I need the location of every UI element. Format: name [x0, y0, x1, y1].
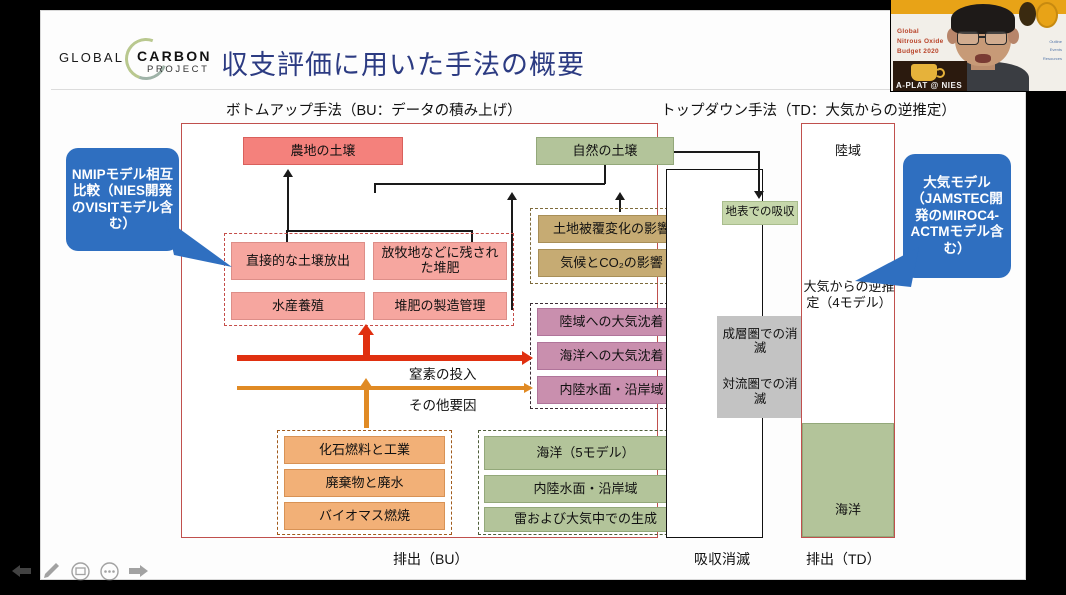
node-lightning-atmos-production[interactable]: 雷および大気中での生成 [484, 507, 687, 532]
node-natural-soil[interactable]: 自然の土壌 [536, 137, 674, 165]
connector-cropland-stem [287, 177, 289, 231]
axis-label-absorption: 吸収消滅 [694, 549, 750, 569]
connector-natural-soil-h [374, 183, 605, 185]
slide-navigation-toolbar[interactable] [12, 561, 148, 581]
more-options-icon[interactable] [99, 561, 119, 581]
node-ocean-5models[interactable]: 海洋（5モデル） [484, 436, 687, 470]
connector-td-in-v [758, 151, 760, 193]
presenter-glasses-right [985, 31, 1007, 45]
axis-label-emission-td: 排出（TD） [806, 549, 881, 569]
tropospheric-loss-label: 対流圏での消滅 [720, 377, 800, 406]
node-biomass-burning[interactable]: バイオマス燃焼 [284, 502, 445, 530]
connector-natural-soil-left-v [374, 183, 376, 193]
node-td-ocean[interactable]: 海洋 [802, 423, 894, 537]
node-pasture-manure[interactable]: 放牧地などに残された堆肥 [373, 242, 507, 280]
badge-handle-icon [935, 68, 945, 78]
node-fossil-fuel-industry[interactable]: 化石燃料と工業 [284, 436, 445, 464]
connector-agri-top-h [286, 230, 472, 232]
stratospheric-loss-label: 成層圏での消滅 [720, 327, 800, 356]
badge-text: A-PLAT @ NIES [896, 81, 962, 90]
logo-carbon-text: CARBON [137, 48, 212, 64]
pen-tool-icon[interactable] [41, 561, 61, 581]
node-inland-water-coastal-dep[interactable]: 内陸水面・沿岸域 [537, 376, 686, 404]
node-direct-soil-emission[interactable]: 直接的な土壌放出 [231, 242, 365, 280]
node-aquaculture[interactable]: 水産養殖 [231, 292, 365, 320]
arrow-up-cropland [283, 169, 293, 177]
callout-nmip-text: NMIPモデル相互比較（NIES開発のVISITモデル含む） [70, 167, 175, 233]
node-manure-management[interactable]: 堆肥の製造管理 [373, 292, 507, 320]
node-stratospheric-loss[interactable]: 成層圏での消滅 [717, 316, 803, 366]
node-inland-water-coastal-src[interactable]: 内陸水面・沿岸域 [484, 475, 687, 503]
webcam-sidebar-line-2: Events [1043, 46, 1062, 54]
label-nitrogen-input: 窒素の投入 [409, 363, 477, 383]
global-carbon-project-logo: GLOBAL CARBON PROJECT [59, 36, 229, 81]
arrow-other-vertical [364, 386, 369, 428]
node-ocean-deposition[interactable]: 海洋への大気沈着 [537, 342, 686, 370]
webcam-overlay[interactable]: Global Nitrous Oxide Budget 2020 Outline… [890, 0, 1066, 92]
webcam-sidebar-line-1: Outline [1043, 38, 1062, 46]
webcam-watermark-badge: A-PLAT @ NIES [893, 61, 967, 91]
webcam-slide-ellipse-gold [1036, 2, 1058, 28]
label-other-factors: その他要因 [409, 394, 477, 414]
caption-top-down: トップダウン手法（TD：大気からの逆推定） [661, 99, 956, 120]
presenter-glasses-left [957, 31, 979, 45]
webcam-sidebar-line-3: Resources [1043, 55, 1062, 63]
connector-natural-soil-stem [604, 165, 606, 184]
callout-atmos-tail [853, 241, 923, 301]
callout-nmip-model[interactable]: NMIPモデル相互比較（NIES開発のVISITモデル含む） [66, 148, 179, 251]
arrow-other-horizontal [237, 386, 525, 390]
page-title: 収支評価に用いた手法の概要 [221, 43, 585, 82]
node-surface-uptake[interactable]: 地表での吸収 [722, 201, 798, 225]
node-landcover-change[interactable]: 土地被覆変化の影響 [538, 215, 685, 243]
node-land-deposition[interactable]: 陸域への大気沈着 [537, 308, 686, 336]
node-cropland-soil[interactable]: 農地の土壌 [243, 137, 403, 165]
logo-global-text: GLOBAL [59, 50, 124, 65]
arrow-nitrogen-head-up [358, 324, 374, 335]
node-tropospheric-loss[interactable]: 対流圏での消滅 [717, 366, 803, 418]
label-td-land: 陸域 [807, 143, 889, 159]
screen: GLOBAL CARBON PROJECT 収支評価に用いた手法の概要 ボトムア… [0, 0, 1066, 595]
next-slide-icon[interactable] [128, 561, 148, 581]
arrow-down-absorption [754, 191, 764, 199]
arrow-up-mid [507, 192, 517, 200]
presenter-glasses-bridge [979, 36, 985, 38]
callout-nmip-tail [166, 211, 246, 271]
presenter-hair [951, 4, 1015, 34]
logo-project-text: PROJECT [147, 64, 210, 75]
connector-td-in-h [674, 151, 759, 153]
node-climate-co2[interactable]: 気候とCO₂の影響 [538, 249, 685, 277]
presentation-slide: GLOBAL CARBON PROJECT 収支評価に用いた手法の概要 ボトムア… [40, 10, 1026, 580]
title-divider [51, 89, 1017, 90]
presenter-mouth [975, 54, 991, 63]
axis-label-emission-bu: 排出（BU） [393, 549, 468, 569]
arrow-other-head-right [524, 383, 533, 393]
arrow-up-tan [615, 192, 625, 200]
node-waste-wastewater[interactable]: 廃棄物と廃水 [284, 469, 445, 497]
present-view-icon[interactable] [70, 561, 90, 581]
previous-slide-icon[interactable] [12, 561, 32, 581]
arrow-nitrogen-head-right [522, 351, 533, 365]
arrow-nitrogen-horizontal [237, 355, 523, 361]
caption-bottom-up: ボトムアップ手法（BU：データの積み上げ） [226, 99, 522, 120]
badge-cup-icon [911, 64, 937, 81]
webcam-slide-sidebar: Outline Events Resources [1043, 38, 1062, 63]
